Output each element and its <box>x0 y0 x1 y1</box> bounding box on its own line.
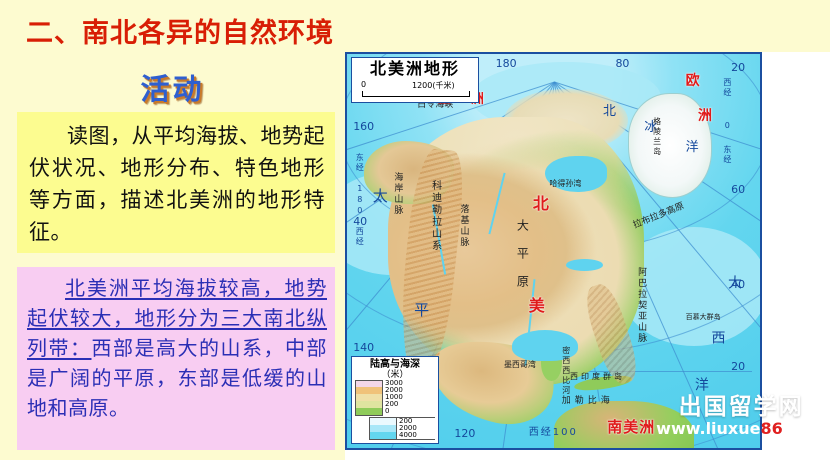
map-label-mississippi-river: 密西西比河 <box>562 346 570 396</box>
legend-swatch <box>355 408 383 416</box>
grid-lat-60: 60 <box>731 184 745 195</box>
question-box: 读图，从平均海拔、地势起伏状况、地形分布、特色地形等方面，描述北美洲的地形特征。 <box>17 112 335 253</box>
map-label-appalachians: 阿巴拉契亚山脉 <box>636 267 645 344</box>
map-title: 北美洲地形 <box>356 60 474 78</box>
map-legend: 陆高与海深 （米） 3000 2000 1000 200 0 200 2000 … <box>351 356 439 444</box>
grid-west-longitude-label: 西经 <box>355 227 363 247</box>
grid-lon-180-side: 180 <box>355 184 363 217</box>
slide-root: 二、南北各异的自然环境 活动 读图，从平均海拔、地势起伏状况、地形分布、特色地形… <box>0 0 830 460</box>
map-title-box: 北美洲地形 0 1200(千米) <box>351 57 479 103</box>
legend-value: 0 <box>385 408 389 415</box>
watermark-url-prefix: www.liuxue <box>656 419 760 438</box>
map-label-pacific-1: 太 <box>372 188 387 205</box>
answer-box: 北美洲平均海拔较高，地势起伏较大，地形分为三大南北纵列带：西部是高大的山系，中部… <box>17 267 335 450</box>
legend-row: 0 <box>355 408 435 415</box>
map-label-south-america: 南美洲 <box>607 420 655 435</box>
map-label-cordillera: 科迪勒拉山系 <box>430 180 440 252</box>
map-label-west-indies: 西印度群岛 <box>570 373 625 381</box>
legend-title: 陆高与海深 <box>355 359 435 370</box>
legend-land-scale: 3000 2000 1000 200 0 <box>355 380 435 415</box>
map-scale: 0 1200(千米) <box>356 80 474 100</box>
grid-west-longitude-100: 西经100 <box>529 428 578 438</box>
grid-west-longitude-right: 西经 <box>723 78 731 98</box>
legend-row: 4000 <box>369 432 435 439</box>
map-label-america: 美 <box>529 298 545 314</box>
map-label-north: 北 <box>533 196 549 212</box>
map-label-rocky-mountains: 落基山脉 <box>459 204 468 248</box>
map-label-bermuda: 百慕大群岛 <box>686 314 721 321</box>
grid-lon-0: 0 <box>723 121 731 132</box>
legend-value: 4000 <box>399 432 417 439</box>
watermark-url-suffix: .com <box>783 419 826 438</box>
legend-sea-scale: 200 2000 4000 <box>369 417 435 440</box>
map-label-europe-2: 洲 <box>698 109 712 123</box>
legend-swatch <box>369 425 397 432</box>
map-label-europe: 欧 <box>686 74 700 88</box>
grid-lon-120b: 120 <box>454 428 475 439</box>
scale-bar <box>362 91 470 97</box>
great-lakes-water <box>566 259 603 271</box>
map-label-arctic-1: 北 <box>603 105 616 118</box>
grid-east-longitude-label: 东经 <box>355 153 363 173</box>
map-label-hudson-bay: 哈得孙湾 <box>549 180 581 188</box>
grid-east-longitude-right: 东经 <box>723 145 731 165</box>
grid-lat-20b: 20 <box>731 361 745 372</box>
question-text: 读图，从平均海拔、地势起伏状况、地形分布、特色地形等方面，描述北美洲的地形特征。 <box>29 120 325 248</box>
legend-swatch <box>355 387 383 394</box>
grid-lat-80: 80 <box>615 58 629 69</box>
legend-swatch <box>355 394 383 401</box>
grid-lon-180: 180 <box>496 58 517 69</box>
watermark-brand: 出国留学网 <box>656 387 826 421</box>
map-label-pacific-2: 平 <box>413 302 428 319</box>
page-title: 二、南北各异的自然环境 <box>0 11 360 50</box>
watermark: 出国留学网 www.liuxue86.com <box>656 387 826 438</box>
grid-lon-20: 20 <box>731 62 745 73</box>
grid-lon-160: 160 <box>353 121 374 132</box>
legend-swatch <box>369 418 397 425</box>
map-label-arctic-3: 洋 <box>686 141 699 154</box>
scale-start: 0 <box>361 80 366 89</box>
activity-heading: 活动 <box>0 66 345 108</box>
legend-swatch <box>369 432 397 439</box>
map-label-gulf-of-mexico: 墨西哥湾 <box>504 361 536 369</box>
answer-text: 北美洲平均海拔较高，地势起伏较大，地形分为三大南北纵列带：西部是高大的山系，中部… <box>27 273 327 423</box>
map-label-coast-ranges: 海岸山脉 <box>392 172 401 216</box>
slide-background-top <box>345 0 830 52</box>
map-label-atlantic-2: 西 <box>710 330 724 346</box>
grid-lat-40b: 40 <box>731 279 745 290</box>
scale-end: 1200(千米) <box>412 80 455 91</box>
watermark-url: www.liuxue86.com <box>656 419 826 438</box>
grid-lat-40a: 40 <box>353 216 367 227</box>
map-label-caribbean-sea: 加勒比海 <box>562 397 614 406</box>
map-label-greenland: 格陵兰岛 <box>653 117 661 157</box>
grid-lon-140b: 140 <box>353 342 374 353</box>
map-label-great-plains: 大平原 <box>516 219 528 303</box>
watermark-url-highlight: 86 <box>761 419 783 438</box>
